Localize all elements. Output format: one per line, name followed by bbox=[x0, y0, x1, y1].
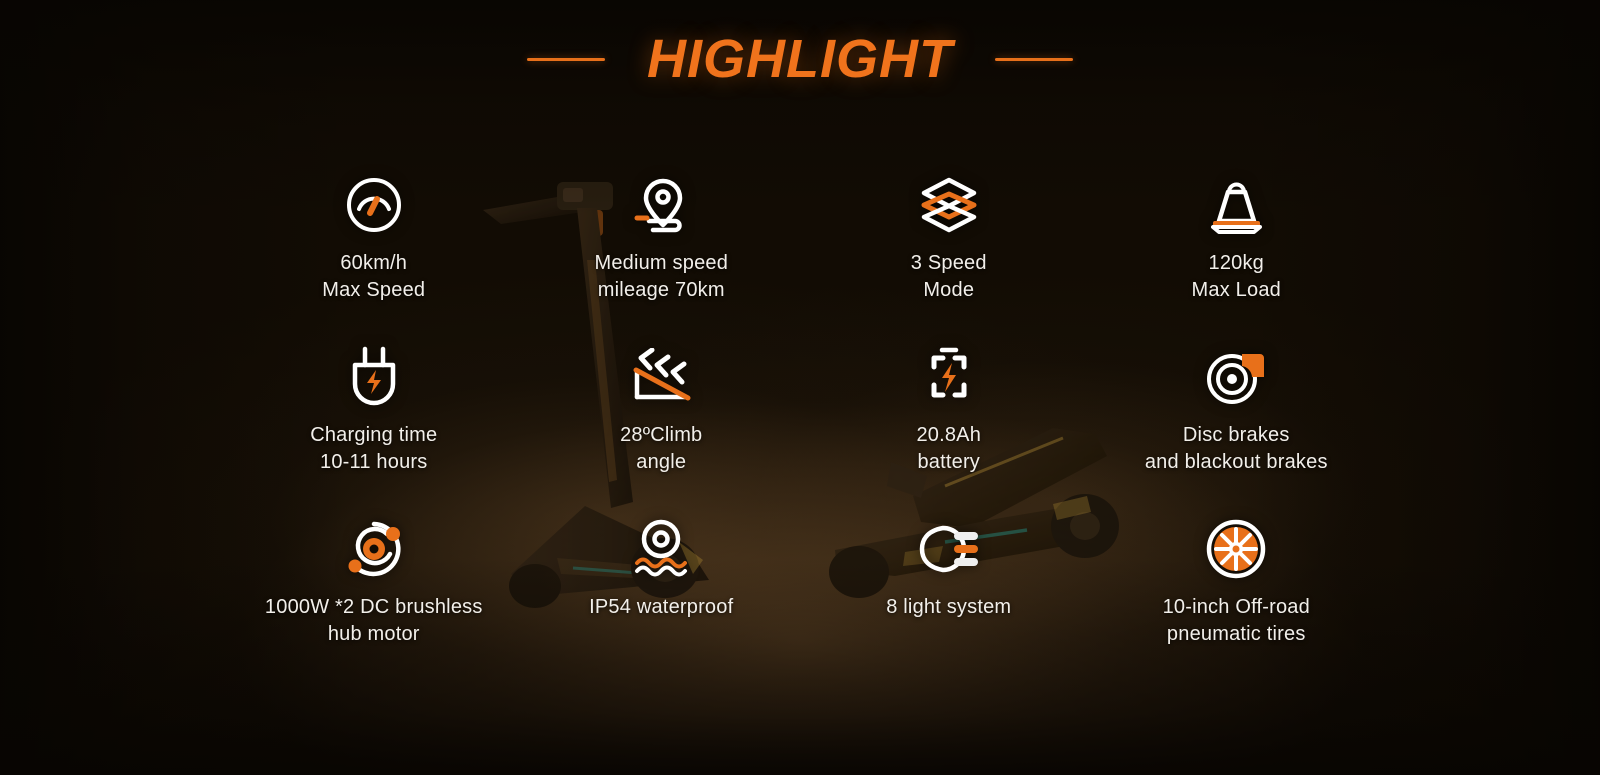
feature-speed-mode: 3 Speed Mode bbox=[805, 168, 1093, 340]
feature-max-load: 120kg Max Load bbox=[1093, 168, 1381, 340]
feature-label: 8 light system bbox=[886, 594, 1011, 621]
feature-mileage: Medium speed mileage 70km bbox=[518, 168, 806, 340]
feature-disc-brakes: Disc brakes and blackout brakes bbox=[1093, 340, 1381, 512]
feature-label: 28ºClimb angle bbox=[620, 422, 702, 476]
battery-icon bbox=[923, 340, 975, 414]
feature-hub-motor: 1000W *2 DC brushless hub motor bbox=[230, 512, 518, 684]
feature-label: Charging time 10-11 hours bbox=[310, 422, 437, 476]
location-pin-icon bbox=[629, 168, 693, 242]
page-title: HIGHLIGHT bbox=[647, 32, 953, 86]
divider-line-left-icon bbox=[527, 58, 605, 61]
headlight-icon bbox=[916, 512, 982, 586]
feature-max-speed: 60km/h Max Speed bbox=[230, 168, 518, 340]
speedometer-icon bbox=[344, 168, 404, 242]
tire-icon bbox=[1206, 512, 1266, 586]
page-header: HIGHLIGHT bbox=[0, 32, 1600, 86]
weight-icon bbox=[1205, 168, 1267, 242]
highlight-page: HIGHLIGHT 60km/h Max Speed bbox=[0, 0, 1600, 775]
feature-label: IP54 waterproof bbox=[589, 594, 733, 621]
feature-pneumatic-tires: 10-inch Off-road pneumatic tires bbox=[1093, 512, 1381, 684]
feature-grid: 60km/h Max Speed Medium speed mileage 70… bbox=[230, 168, 1380, 684]
feature-climb-angle: 28ºClimb angle bbox=[518, 340, 806, 512]
feature-battery: 20.8Ah battery bbox=[805, 340, 1093, 512]
feature-charging-time: Charging time 10-11 hours bbox=[230, 340, 518, 512]
feature-label: 60km/h Max Speed bbox=[322, 250, 425, 304]
charging-plug-icon bbox=[345, 340, 403, 414]
feature-label: 120kg Max Load bbox=[1192, 250, 1281, 304]
disc-brake-icon bbox=[1205, 340, 1267, 414]
feature-label: Medium speed mileage 70km bbox=[594, 250, 728, 304]
feature-waterproof: IP54 waterproof bbox=[518, 512, 806, 684]
feature-label: 20.8Ah battery bbox=[916, 422, 981, 476]
feature-label: 10-inch Off-road pneumatic tires bbox=[1163, 594, 1310, 648]
feature-label: 1000W *2 DC brushless hub motor bbox=[265, 594, 483, 648]
motor-icon bbox=[343, 512, 405, 586]
feature-light-system: 8 light system bbox=[805, 512, 1093, 684]
feature-label: Disc brakes and blackout brakes bbox=[1145, 422, 1328, 476]
waterproof-icon bbox=[631, 512, 691, 586]
layers-icon bbox=[918, 168, 980, 242]
feature-label: 3 Speed Mode bbox=[911, 250, 987, 304]
divider-line-right-icon bbox=[995, 58, 1073, 61]
climb-angle-icon bbox=[628, 340, 694, 414]
